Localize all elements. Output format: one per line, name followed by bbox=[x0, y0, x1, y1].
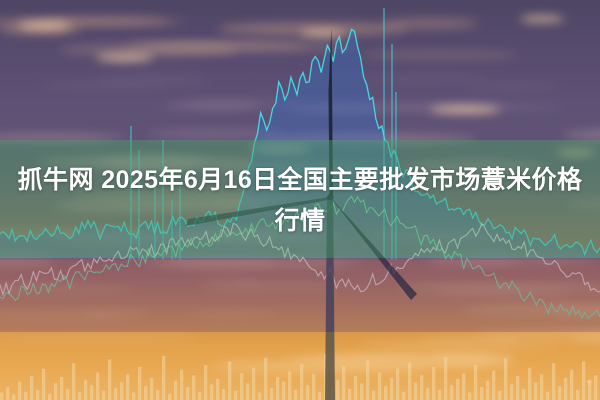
watermark-mark: ◈ bbox=[586, 378, 593, 386]
purple-overlay-band bbox=[0, 258, 600, 332]
page-title: 抓牛网 2025年6月16日全国主要批发市场薏米价格行情 bbox=[0, 160, 600, 242]
orange-overlay-band bbox=[0, 332, 600, 400]
banner-image: 抓牛网 2025年6月16日全国主要批发市场薏米价格行情 ◈ bbox=[0, 0, 600, 400]
